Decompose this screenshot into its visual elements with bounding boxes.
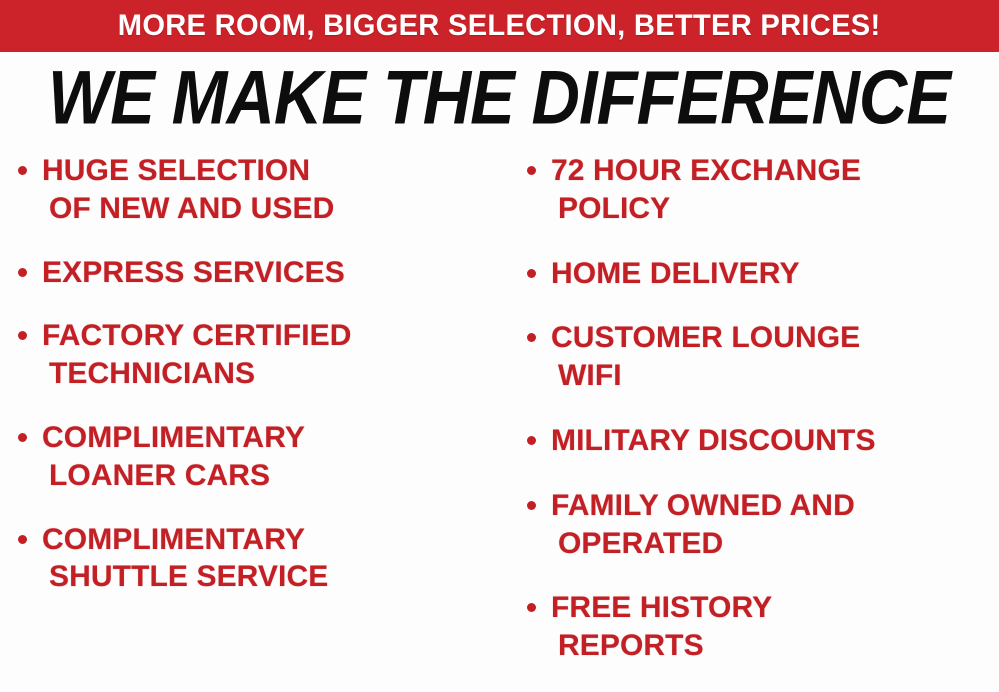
promo-banner: MORE ROOM, BIGGER SELECTION, BETTER PRIC…: [0, 0, 999, 52]
list-item-label: CUSTOMER LOUNGE WIFI: [551, 319, 860, 395]
list-item: HUGE SELECTION OF NEW AND USED: [18, 152, 505, 228]
list-item-line2: SHUTTLE SERVICE: [42, 558, 328, 596]
list-item: COMPLIMENTARY LOANER CARS: [18, 419, 505, 495]
promo-banner-headline: MORE ROOM, BIGGER SELECTION, BETTER PRIC…: [118, 11, 881, 41]
features-right-column: 72 HOUR EXCHANGE POLICY HOME DELIVERY CU…: [505, 152, 999, 692]
list-item-line2: OPERATED: [551, 525, 855, 563]
list-item-label: COMPLIMENTARY LOANER CARS: [42, 419, 305, 495]
list-item-line2: LOANER CARS: [42, 457, 305, 495]
list-item-line1: COMPLIMENTARY: [42, 523, 305, 556]
list-item-line2: OF NEW AND USED: [42, 190, 334, 228]
bullet-dot-icon: [527, 436, 536, 445]
list-item-label: EXPRESS SERVICES: [42, 254, 345, 292]
list-item-line2: POLICY: [551, 190, 861, 228]
list-item: MILITARY DISCOUNTS: [527, 422, 999, 460]
list-item-line1: CUSTOMER LOUNGE: [551, 321, 860, 354]
list-item: CUSTOMER LOUNGE WIFI: [527, 319, 999, 395]
bullet-dot-icon: [18, 166, 27, 175]
list-item-line2: REPORTS: [551, 627, 772, 665]
list-item-line2: TECHNICIANS: [42, 355, 352, 393]
list-item-label: HUGE SELECTION OF NEW AND USED: [42, 152, 334, 228]
list-item-label: MILITARY DISCOUNTS: [551, 422, 876, 460]
list-item-line1: MILITARY DISCOUNTS: [551, 424, 876, 457]
list-item-line2: WIFI: [551, 357, 860, 395]
list-item: FREE HISTORY REPORTS: [527, 589, 999, 665]
list-item-label: COMPLIMENTARY SHUTTLE SERVICE: [42, 521, 328, 597]
list-item: FACTORY CERTIFIED TECHNICIANS: [18, 317, 505, 393]
list-item-label: FREE HISTORY REPORTS: [551, 589, 772, 665]
list-item: COMPLIMENTARY SHUTTLE SERVICE: [18, 521, 505, 597]
list-item-line1: FACTORY CERTIFIED: [42, 319, 352, 352]
headline-section: WE MAKE THE DIFFERENCE: [0, 52, 999, 144]
list-item-line1: FREE HISTORY: [551, 591, 772, 624]
list-item-line1: HUGE SELECTION: [42, 154, 310, 187]
list-item: 72 HOUR EXCHANGE POLICY: [527, 152, 999, 228]
bullet-dot-icon: [527, 501, 536, 510]
list-item-label: HOME DELIVERY: [551, 255, 800, 293]
bullet-dot-icon: [527, 166, 536, 175]
list-item-line1: EXPRESS SERVICES: [42, 256, 345, 289]
list-item: FAMILY OWNED AND OPERATED: [527, 487, 999, 563]
bullet-dot-icon: [527, 333, 536, 342]
bullet-dot-icon: [18, 433, 27, 442]
bullet-dot-icon: [18, 268, 27, 277]
list-item-line1: HOME DELIVERY: [551, 257, 800, 290]
features-left-column: HUGE SELECTION OF NEW AND USED EXPRESS S…: [0, 152, 505, 692]
list-item: HOME DELIVERY: [527, 255, 999, 293]
list-item-line1: FAMILY OWNED AND: [551, 489, 855, 522]
bullet-dot-icon: [18, 331, 27, 340]
bullet-dot-icon: [18, 535, 27, 544]
list-item: EXPRESS SERVICES: [18, 254, 505, 292]
list-item-label: FACTORY CERTIFIED TECHNICIANS: [42, 317, 352, 393]
bullet-dot-icon: [527, 603, 536, 612]
list-item-label: 72 HOUR EXCHANGE POLICY: [551, 152, 861, 228]
features-columns: HUGE SELECTION OF NEW AND USED EXPRESS S…: [0, 144, 999, 692]
list-item-line1: COMPLIMENTARY: [42, 421, 305, 454]
list-item-line1: 72 HOUR EXCHANGE: [551, 154, 861, 187]
bullet-dot-icon: [527, 269, 536, 278]
list-item-label: FAMILY OWNED AND OPERATED: [551, 487, 855, 563]
page-title: WE MAKE THE DIFFERENCE: [48, 60, 950, 136]
